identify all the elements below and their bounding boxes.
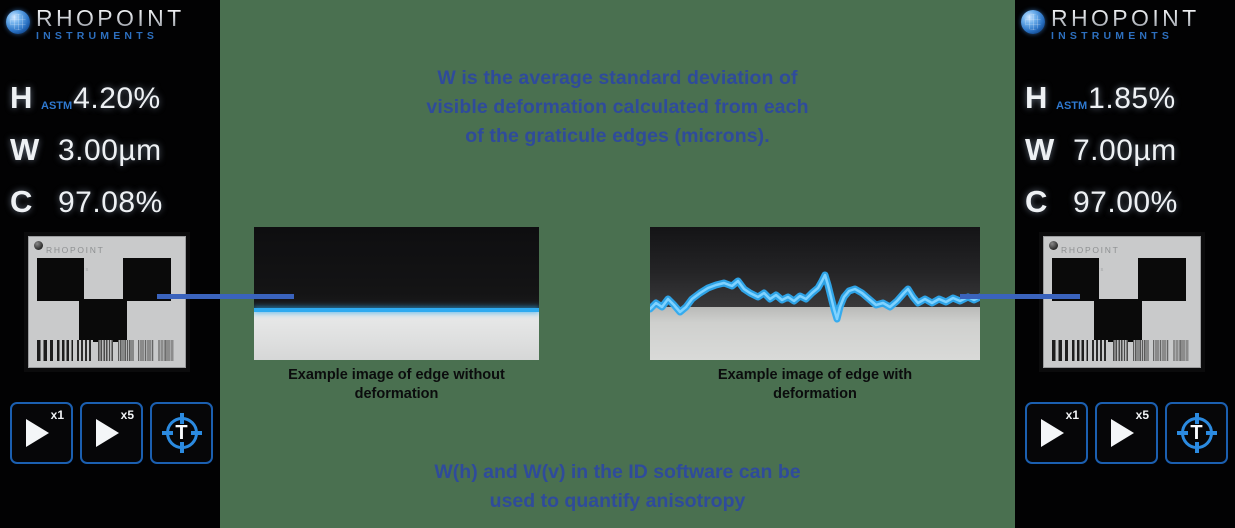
play-x5-button[interactable]: x5 xyxy=(80,402,143,464)
graticule-target-card-left: RHOPOINT INSTRUMENTS xyxy=(24,232,190,372)
readout-haze: H ASTM 4.20% xyxy=(10,80,210,132)
target-letter: T xyxy=(1177,413,1217,453)
example-image-with-deformation: Example image of edge with deformation xyxy=(650,227,980,360)
readout-w: W 3.00µm xyxy=(10,132,210,184)
readout-c: C 97.00% xyxy=(1025,184,1225,236)
micrograph-deformed-edge xyxy=(650,227,980,360)
bar-group xyxy=(98,340,114,361)
logo-brand-name: RHOPOINT xyxy=(1051,6,1200,31)
bar-group xyxy=(37,340,53,361)
checker-square xyxy=(1094,299,1142,342)
bar-group xyxy=(57,340,73,361)
play-icon xyxy=(1041,419,1064,447)
checker-square xyxy=(79,299,127,342)
readout-symbol: H xyxy=(1025,80,1059,116)
example-flat-caption-line-2: deformation xyxy=(254,385,539,404)
readout-symbol: C xyxy=(1025,184,1059,220)
example-deformed-caption-line-2: deformation xyxy=(650,385,980,404)
bar-group xyxy=(1092,340,1108,361)
bar-group xyxy=(77,340,93,361)
micrograph-flat-edge xyxy=(254,227,539,360)
globe-icon xyxy=(6,10,30,34)
bottom-explanation-text: W(h) and W(v) in the ID software can be … xyxy=(235,458,1000,516)
logo-text: RHOPOINT INSTRUMENTS xyxy=(1051,6,1200,42)
instrument-panel-left: RHOPOINT INSTRUMENTS H ASTM 4.20% W 3.00… xyxy=(0,0,220,528)
target-letter: T xyxy=(162,413,202,453)
readout-symbol: C xyxy=(10,184,44,220)
measurement-readouts-right: H ASTM 1.85% W 7.00µm C 97.00% xyxy=(1025,80,1225,236)
logo-text: RHOPOINT INSTRUMENTS xyxy=(36,6,185,42)
bar-group xyxy=(1153,340,1169,361)
bottom-explanation-line-2: used to quantify anisotropy xyxy=(235,487,1000,516)
play-x5-label: x5 xyxy=(1136,408,1149,422)
readout-value: 97.08% xyxy=(58,186,163,220)
play-x1-label: x1 xyxy=(51,408,64,422)
card-logo-brand: RHOPOINT xyxy=(46,245,104,255)
bar-group xyxy=(118,340,134,361)
control-button-bar-left: x1 x5 T xyxy=(10,402,213,464)
globe-icon xyxy=(1021,10,1045,34)
top-explanation-text: W is the average standard deviation of v… xyxy=(235,64,1000,151)
graticule-target-card-right: RHOPOINT INSTRUMENTS xyxy=(1039,232,1205,372)
readout-value: 97.00% xyxy=(1073,186,1178,220)
readout-c: C 97.08% xyxy=(10,184,210,236)
globe-icon xyxy=(34,241,43,250)
target-button[interactable]: T xyxy=(150,402,213,464)
measurement-readouts-left: H ASTM 4.20% W 3.00µm C 97.08% xyxy=(10,80,210,236)
readout-value: 3.00µm xyxy=(58,134,162,168)
readout-value: 7.00µm xyxy=(1073,134,1177,168)
play-x5-button[interactable]: x5 xyxy=(1095,402,1158,464)
logo-brand-tagline: INSTRUMENTS xyxy=(1051,30,1200,42)
deformed-edge-trace xyxy=(650,227,980,360)
bar-group xyxy=(1113,340,1129,361)
readout-haze: H ASTM 1.85% xyxy=(1025,80,1225,132)
connector-line-right xyxy=(960,294,1080,299)
connector-line-left xyxy=(157,294,294,299)
card-logo-brand: RHOPOINT xyxy=(1061,245,1119,255)
rhopoint-logo-right: RHOPOINT INSTRUMENTS xyxy=(1021,6,1229,46)
instrument-panel-right: RHOPOINT INSTRUMENTS H ASTM 1.85% W 7.00… xyxy=(1015,0,1235,528)
top-explanation-line-2: visible deformation calculated from each xyxy=(235,93,1000,122)
globe-icon xyxy=(1049,241,1058,250)
logo-brand-tagline: INSTRUMENTS xyxy=(36,30,185,42)
readout-value: 1.85% xyxy=(1088,82,1176,116)
readout-subscript: ASTM xyxy=(41,100,72,112)
checker-square xyxy=(37,258,84,301)
top-explanation-line-1: W is the average standard deviation of xyxy=(235,64,1000,93)
play-x1-button[interactable]: x1 xyxy=(1025,402,1088,464)
readout-w: W 7.00µm xyxy=(1025,132,1225,184)
bar-group xyxy=(1133,340,1149,361)
rhopoint-logo-left: RHOPOINT INSTRUMENTS xyxy=(6,6,214,46)
target-icon: T xyxy=(162,413,202,453)
detected-edge-line xyxy=(254,308,539,312)
readout-symbol: H xyxy=(10,80,44,116)
example-flat-caption-line-1: Example image of edge without xyxy=(254,366,539,385)
target-button[interactable]: T xyxy=(1165,402,1228,464)
bar-group xyxy=(138,340,154,361)
bright-region xyxy=(254,312,539,360)
checker-square xyxy=(1138,258,1186,301)
example-flat-caption: Example image of edge without deformatio… xyxy=(254,366,539,404)
bar-group xyxy=(1072,340,1088,361)
example-deformed-caption-line-1: Example image of edge with xyxy=(650,366,980,385)
control-button-bar-right: x1 x5 T xyxy=(1025,402,1228,464)
play-x1-label: x1 xyxy=(1066,408,1079,422)
readout-value: 4.20% xyxy=(73,82,161,116)
target-icon: T xyxy=(1177,413,1217,453)
readout-symbol: W xyxy=(10,132,44,168)
bar-group xyxy=(158,340,174,361)
readout-subscript: ASTM xyxy=(1056,100,1087,112)
bar-group xyxy=(1052,340,1068,361)
readout-symbol: W xyxy=(1025,132,1059,168)
resolution-bar-groups xyxy=(37,340,174,361)
play-icon xyxy=(26,419,49,447)
bottom-explanation-line-1: W(h) and W(v) in the ID software can be xyxy=(235,458,1000,487)
bar-group xyxy=(1173,340,1189,361)
example-deformed-caption: Example image of edge with deformation xyxy=(650,366,980,404)
top-explanation-line-3: of the graticule edges (microns). xyxy=(235,122,1000,151)
resolution-bar-groups xyxy=(1052,340,1189,361)
play-icon xyxy=(1111,419,1134,447)
play-icon xyxy=(96,419,119,447)
play-x1-button[interactable]: x1 xyxy=(10,402,73,464)
logo-brand-name: RHOPOINT xyxy=(36,6,185,31)
example-image-without-deformation: Example image of edge without deformatio… xyxy=(254,227,539,360)
play-x5-label: x5 xyxy=(121,408,134,422)
